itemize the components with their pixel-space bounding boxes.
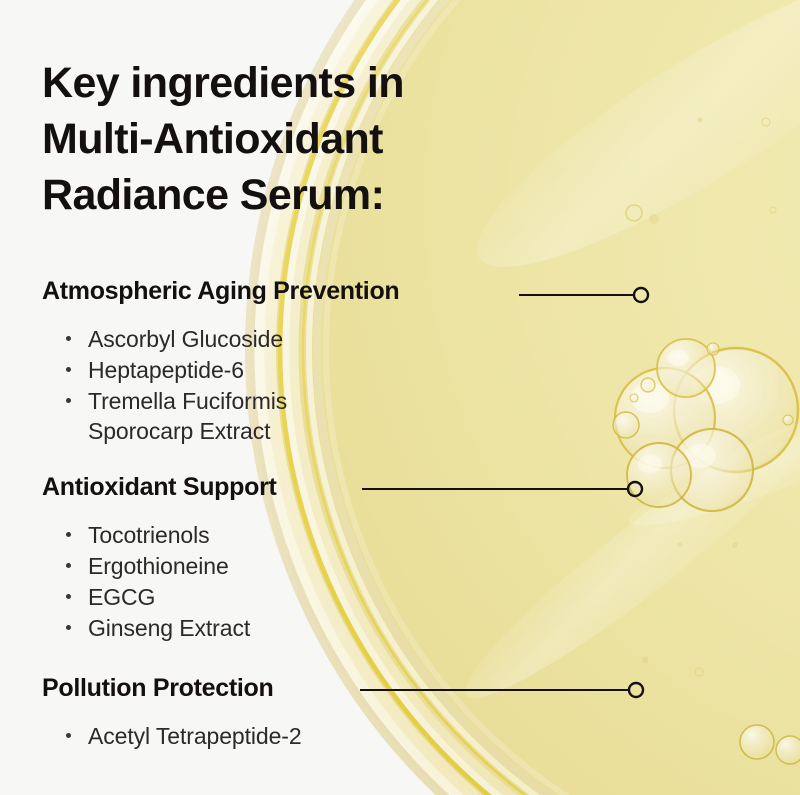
bullet-dot-icon xyxy=(66,398,71,403)
bullet-dot-icon xyxy=(66,336,71,341)
bullet-dot-icon xyxy=(66,532,71,537)
ingredient-name: Heptapeptide-6 xyxy=(88,357,244,383)
title-line-3: Radiance Serum: xyxy=(42,167,512,223)
list-item: EGCG xyxy=(64,582,277,612)
bullet-dot-icon xyxy=(66,594,71,599)
infographic-canvas: Key ingredients in Multi-Antioxidant Rad… xyxy=(0,0,800,795)
leader-endpoint-2 xyxy=(628,482,642,496)
ingredient-name: Tocotrienols xyxy=(88,522,210,548)
list-item: Tremella Fuciformis Sporocarp Extract xyxy=(64,386,399,446)
ingredient-list: Tocotrienols Ergothioneine EGCG Ginseng … xyxy=(42,520,277,643)
title-line-1: Key ingredients in xyxy=(42,55,512,111)
bullet-dot-icon xyxy=(66,367,71,372)
section-antioxidant-support: Antioxidant Support Tocotrienols Ergothi… xyxy=(42,472,277,644)
section-heading: Pollution Protection xyxy=(42,673,302,703)
ingredient-name: EGCG xyxy=(88,584,155,610)
ingredient-list: Ascorbyl Glucoside Heptapeptide-6 Tremel… xyxy=(42,324,399,446)
list-item: Tocotrienols xyxy=(64,520,277,550)
list-item: Acetyl Tetrapeptide-2 xyxy=(64,721,302,751)
ingredient-list: Acetyl Tetrapeptide-2 xyxy=(42,721,302,751)
list-item: Ergothioneine xyxy=(64,551,277,581)
title-line-2: Multi-Antioxidant xyxy=(42,111,512,167)
list-item: Ginseng Extract xyxy=(64,613,277,643)
leader-endpoint-1 xyxy=(634,288,648,302)
bullet-dot-icon xyxy=(66,563,71,568)
section-heading: Antioxidant Support xyxy=(42,472,277,502)
ingredient-name: Ergothioneine xyxy=(88,553,229,579)
bullet-dot-icon xyxy=(66,733,71,738)
page-title: Key ingredients in Multi-Antioxidant Rad… xyxy=(42,55,512,223)
leader-endpoint-3 xyxy=(629,683,643,697)
ingredient-name: Ginseng Extract xyxy=(88,615,250,641)
list-item: Heptapeptide-6 xyxy=(64,355,399,385)
section-heading: Atmospheric Aging Prevention xyxy=(42,276,399,306)
ingredient-name: Ascorbyl Glucoside xyxy=(88,326,283,352)
bullet-dot-icon xyxy=(66,625,71,630)
section-pollution-protection: Pollution Protection Acetyl Tetrapeptide… xyxy=(42,673,302,752)
ingredient-name: Tremella Fuciformis xyxy=(88,388,287,414)
ingredient-name-continued: Sporocarp Extract xyxy=(88,416,399,446)
section-atmospheric-aging-prevention: Atmospheric Aging Prevention Ascorbyl Gl… xyxy=(42,276,399,447)
ingredient-name: Acetyl Tetrapeptide-2 xyxy=(88,723,302,749)
list-item: Ascorbyl Glucoside xyxy=(64,324,399,354)
